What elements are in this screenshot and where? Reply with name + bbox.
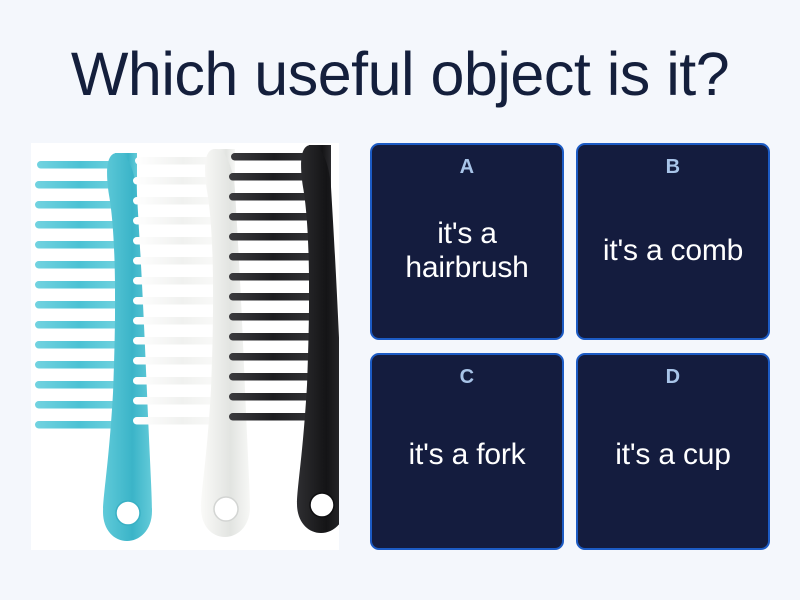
answer-letter-b: B [666, 157, 681, 177]
page-title: Which useful object is it? [0, 32, 800, 116]
answer-letter-d: D [666, 367, 681, 387]
answer-text-a: it's a hairbrush [376, 217, 558, 284]
answer-text-wrap-c: it's a fork [372, 387, 562, 548]
answer-letter-a: A [460, 157, 475, 177]
question-image-panel [31, 143, 339, 550]
answer-card-d[interactable]: D it's a cup [576, 353, 770, 550]
answer-text-d: it's a cup [615, 438, 730, 472]
answer-text-wrap-a: it's a hairbrush [372, 177, 562, 338]
answer-card-a[interactable]: A it's a hairbrush [370, 143, 564, 340]
answer-text-c: it's a fork [409, 438, 526, 472]
answer-card-c[interactable]: C it's a fork [370, 353, 564, 550]
answer-letter-c: C [460, 367, 475, 387]
answer-options-grid: A it's a hairbrush B it's a comb C it's … [370, 143, 770, 550]
combs-image [31, 143, 339, 550]
answer-text-wrap-d: it's a cup [578, 387, 768, 548]
answer-text-b: it's a comb [603, 234, 743, 268]
answer-card-b[interactable]: B it's a comb [576, 143, 770, 340]
answer-text-wrap-b: it's a comb [578, 177, 768, 338]
